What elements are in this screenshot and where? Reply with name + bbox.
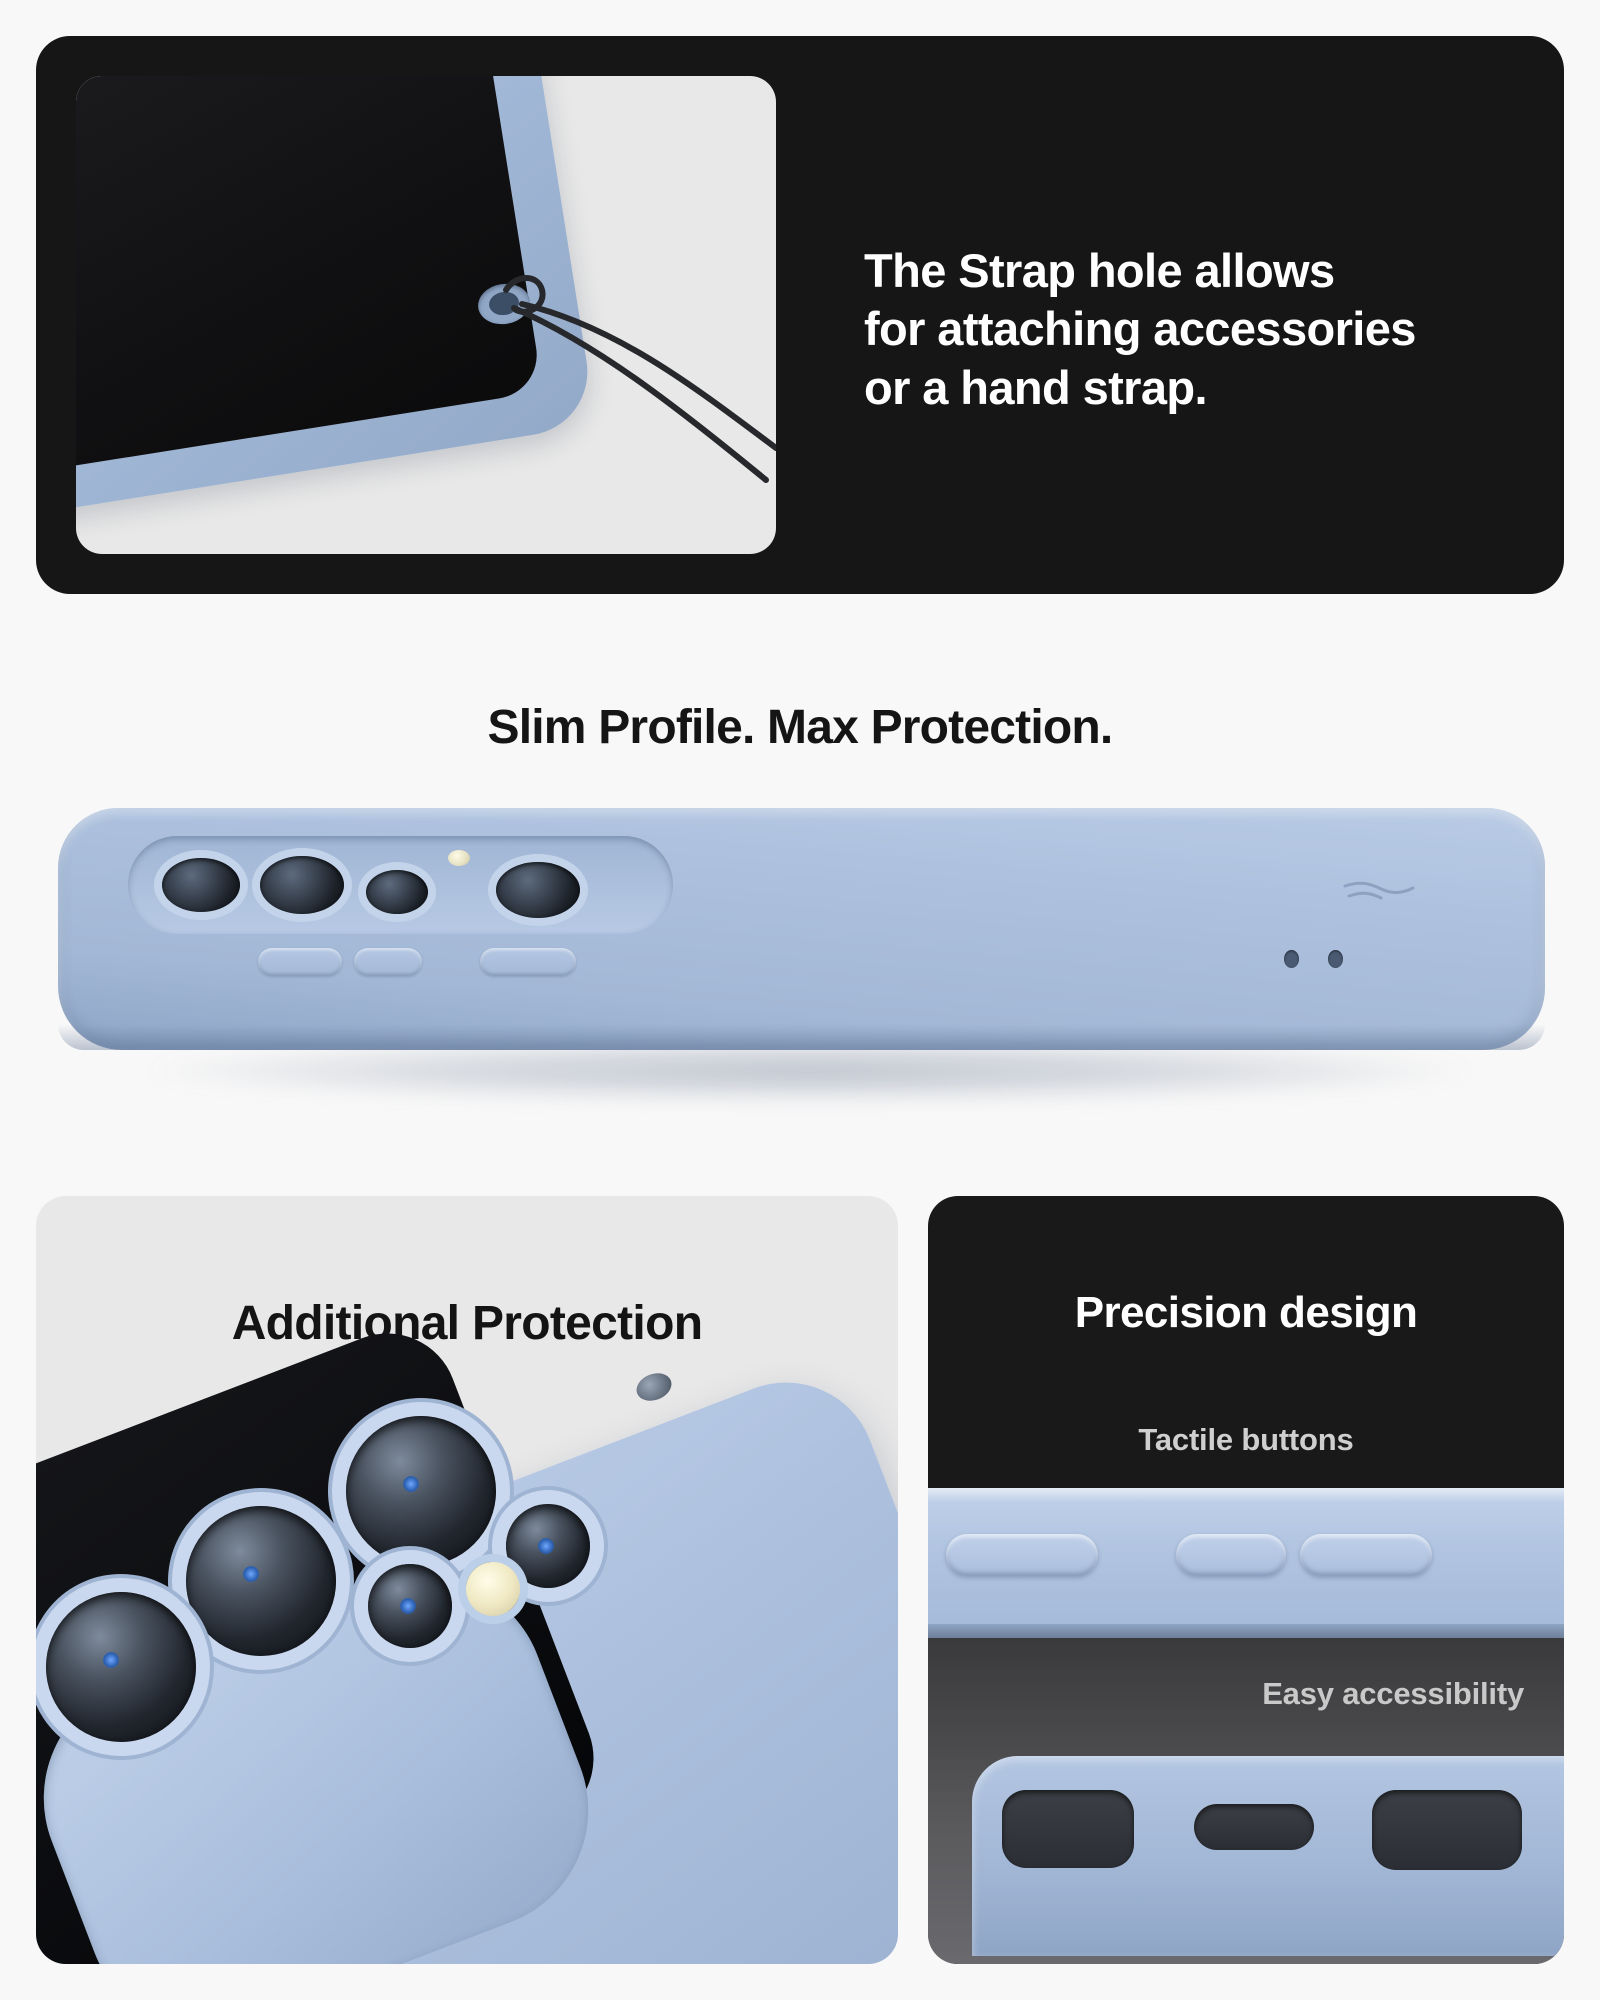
panel-additional-protection: Additional Protection — [36, 1196, 898, 1964]
camera-lens-1 — [162, 858, 240, 912]
camera-lens-large-2 — [186, 1506, 336, 1656]
camera-lens-2 — [260, 856, 344, 914]
product-feature-page: The Strap hole allows for attaching acce… — [0, 0, 1600, 2000]
camera-lens-3 — [366, 870, 428, 914]
strap-copy-line-3: or a hand strap. — [864, 359, 1524, 417]
tactile-buttons-photo — [928, 1488, 1564, 1624]
side-button-3 — [480, 948, 576, 976]
tactile-buttons-label: Tactile buttons — [928, 1422, 1564, 1458]
tactile-button-2 — [1176, 1534, 1286, 1576]
strap-copy-line-1: The Strap hole allows — [864, 242, 1524, 300]
camera-flash — [448, 850, 470, 866]
precision-design-heading: Precision design — [928, 1288, 1564, 1338]
camera-flash-large — [466, 1562, 520, 1616]
camera-lens-large-1 — [346, 1416, 496, 1566]
tactile-button-1 — [946, 1534, 1098, 1576]
case-body — [58, 808, 1545, 1050]
panel-divider — [928, 1624, 1564, 1638]
port-cutout-1 — [1002, 1790, 1134, 1868]
hand-strap-cord-icon — [76, 76, 776, 554]
case-bottom-edge — [972, 1756, 1564, 1956]
panel-precision-design: Precision design Tactile buttons Easy ac… — [928, 1196, 1564, 1964]
speaker-hole-1 — [1284, 950, 1299, 968]
panel-strap-hole: The Strap hole allows for attaching acce… — [36, 36, 1564, 594]
strap-copy-line-2: for attaching accessories — [864, 300, 1524, 358]
charging-port-cutout — [1194, 1804, 1314, 1850]
camera-lens-small-1 — [506, 1504, 590, 1588]
camera-lens-large-3 — [46, 1592, 196, 1742]
port-cutout-2 — [1372, 1790, 1522, 1870]
easy-accessibility-label: Easy accessibility — [928, 1676, 1564, 1712]
side-button-2 — [354, 948, 422, 976]
speaker-hole-2 — [1328, 950, 1343, 968]
additional-protection-photo — [36, 1396, 898, 1964]
additional-protection-heading: Additional Protection — [36, 1296, 898, 1351]
tactile-button-3 — [1300, 1534, 1432, 1576]
hero-case-side-profile — [0, 790, 1600, 1120]
side-button-1 — [258, 948, 342, 976]
camera-island — [128, 836, 673, 934]
brand-logo-icon — [1343, 880, 1417, 906]
slim-profile-heading: Slim Profile. Max Protection. — [0, 700, 1600, 755]
strap-hole-photo — [76, 76, 776, 554]
front-sensor — [633, 1368, 676, 1405]
strap-hole-copy: The Strap hole allows for attaching acce… — [864, 242, 1524, 417]
camera-lens-small-2 — [368, 1564, 452, 1648]
camera-lens-4 — [496, 862, 580, 918]
